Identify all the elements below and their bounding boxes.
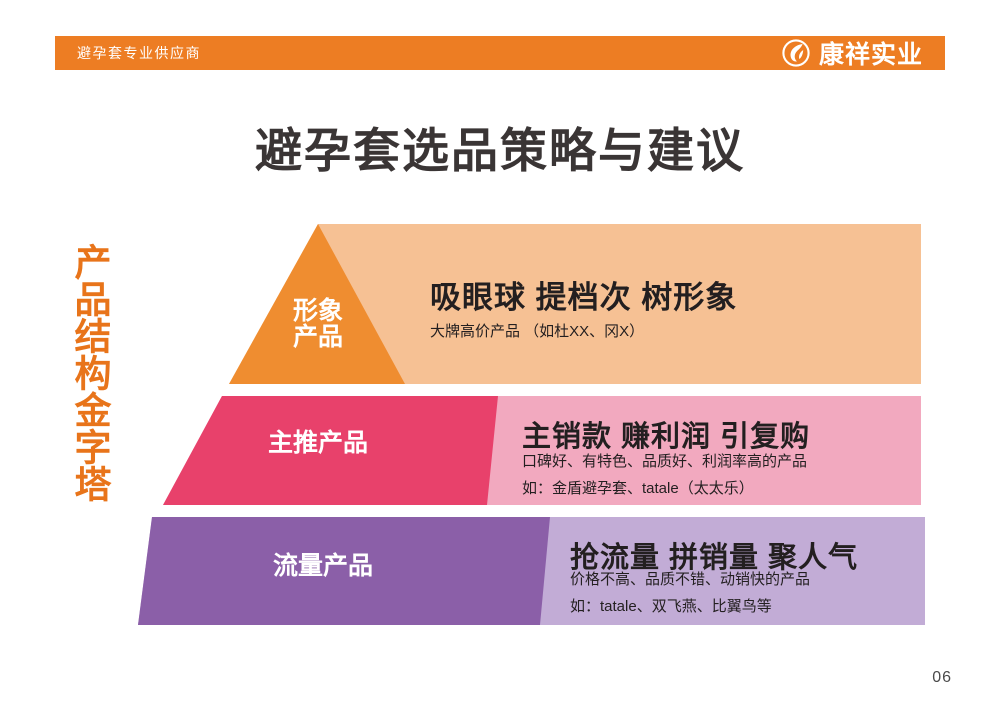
tier-label-line-2: 产品 bbox=[268, 324, 368, 350]
brand-name: 康祥实业 bbox=[819, 35, 923, 71]
tier-subtext-traffic-product-1: 价格不高、品质不错、动销快的产品 bbox=[570, 568, 810, 589]
tier-label-main-push-product: 主推产品 bbox=[238, 430, 398, 456]
leaf-swirl-circle-icon bbox=[781, 38, 811, 68]
tier-heading-image-product: 吸眼球 提档次 树形象 bbox=[430, 272, 737, 317]
header-bar: 避孕套专业供应商 康祥实业 bbox=[55, 36, 945, 70]
slide-canvas: 避孕套专业供应商 康祥实业 避孕套选品策略与建议 产品结构金字塔 bbox=[0, 0, 1000, 719]
tier-heading-main-push-product: 主销款 赚利润 引复购 bbox=[522, 413, 810, 455]
tier-label-traffic-product: 流量产品 bbox=[243, 553, 403, 579]
pyramid-diagram bbox=[0, 0, 1000, 719]
page-number: 06 bbox=[932, 669, 952, 687]
header-tagline: 避孕套专业供应商 bbox=[77, 43, 201, 63]
tier-subtext-main-push-product-2: 如：金盾避孕套、tatale（太太乐） bbox=[522, 477, 754, 498]
tier-subtext-main-push-product-1: 口碑好、有特色、品质好、利润率高的产品 bbox=[522, 450, 807, 471]
page-title: 避孕套选品策略与建议 bbox=[0, 112, 1000, 181]
brand-block: 康祥实业 bbox=[781, 35, 923, 71]
tier-subtext-traffic-product-2: 如：tatale、双飞燕、比翼鸟等 bbox=[570, 595, 772, 616]
side-label-product-structure-pyramid: 产品结构金字塔 bbox=[58, 222, 110, 522]
tier-label-line-1: 形象 bbox=[268, 298, 368, 324]
tier-subtext-image-product-1: 大牌高价产品 （如杜XX、冈X） bbox=[430, 320, 644, 341]
tier-label-image-product: 形象 产品 bbox=[268, 298, 368, 351]
